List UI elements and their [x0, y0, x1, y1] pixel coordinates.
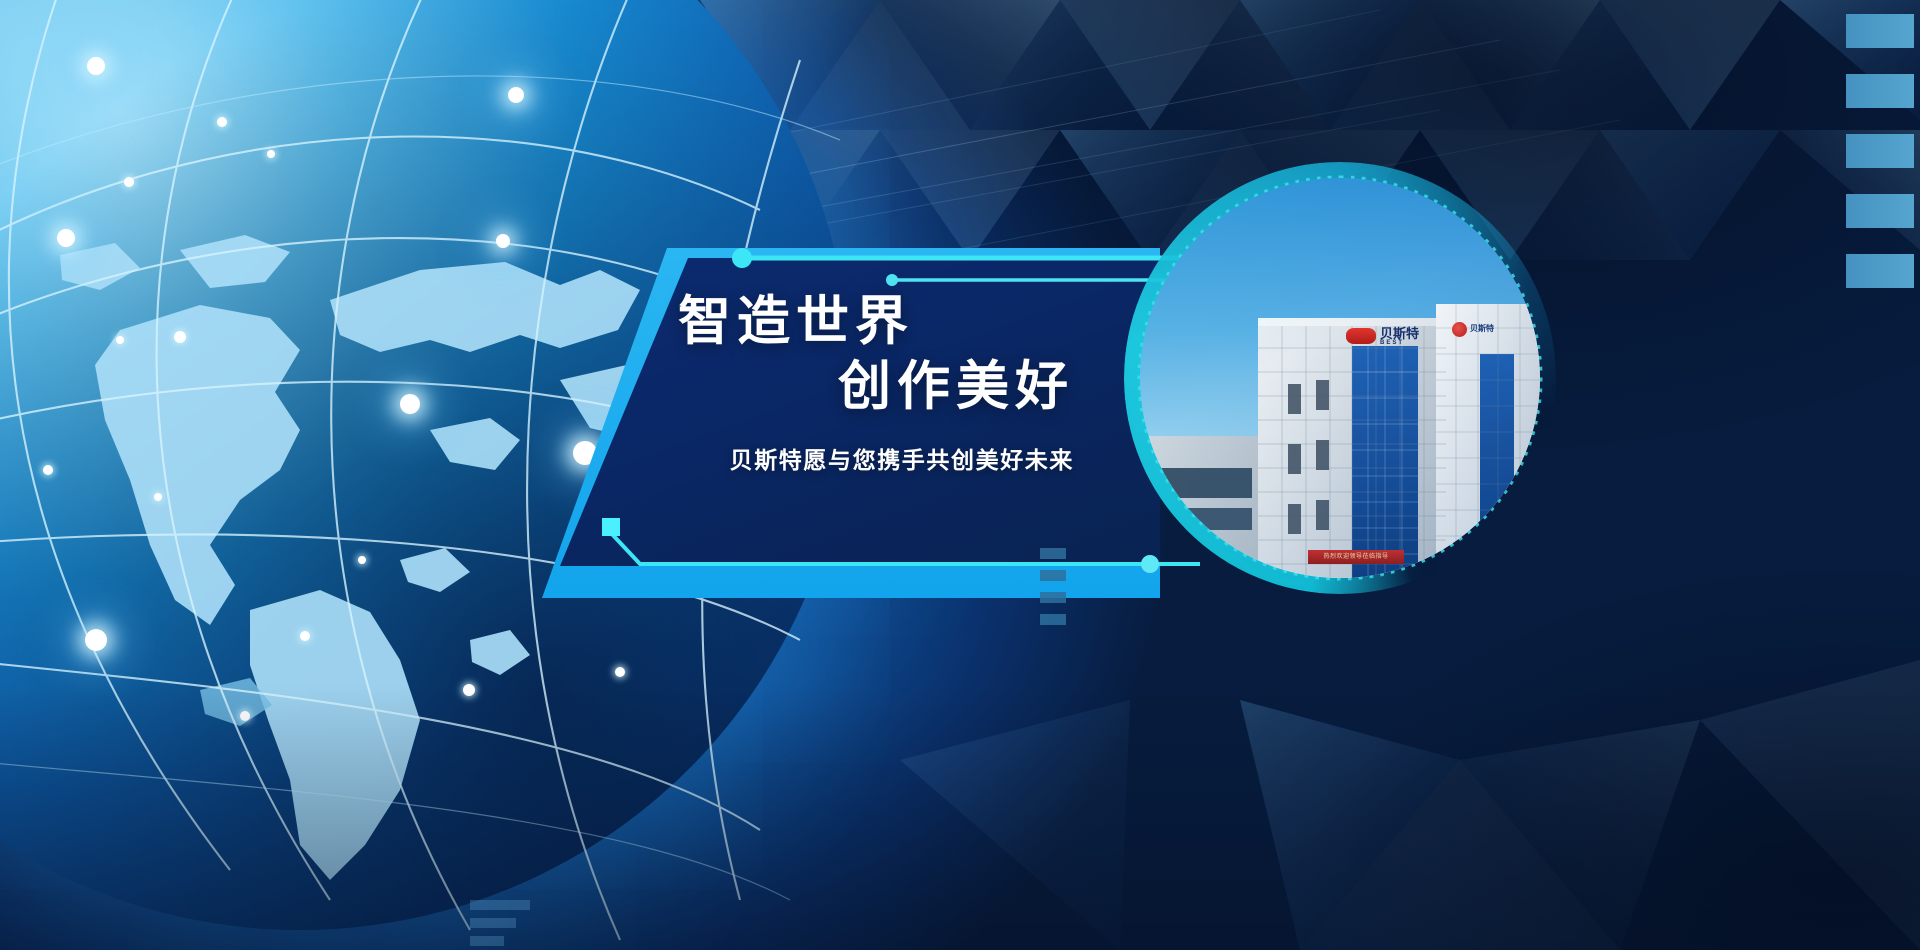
corner-bar-2 — [470, 936, 504, 946]
edge-bar-2 — [1846, 134, 1914, 168]
edge-bar-group — [1846, 14, 1920, 314]
dash-decor-group — [1040, 548, 1066, 636]
edge-bar-4 — [1846, 254, 1914, 288]
dash-0 — [1040, 548, 1066, 559]
building-photo: 贝斯特 BEST 贝斯特 热烈欢迎领导莅临指导 — [1140, 178, 1540, 578]
headline-subtitle: 贝斯特愿与您携手共创美好未来 — [660, 441, 1080, 475]
building-photo-module: 贝斯特 BEST 贝斯特 热烈欢迎领导莅临指导 — [1140, 178, 1540, 578]
dash-2 — [1040, 592, 1066, 603]
corner-bar-0 — [470, 900, 530, 910]
corner-bar-1 — [470, 918, 516, 928]
headline-copy: 智造世界 创作美好 贝斯特愿与您携手共创美好未来 — [660, 290, 1080, 475]
trace-node-top — [732, 248, 752, 268]
corner-bar-group — [470, 900, 530, 950]
hero-banner: 智造世界 创作美好 贝斯特愿与您携手共创美好未来 — [0, 0, 1920, 950]
trace-square-node — [602, 518, 620, 536]
edge-bar-3 — [1846, 194, 1914, 228]
photo-color-haze — [1140, 178, 1540, 578]
dash-3 — [1040, 614, 1066, 625]
edge-bar-1 — [1846, 74, 1914, 108]
trace-node-top2 — [886, 274, 898, 286]
headline-line-2: 创作美好 — [660, 355, 1080, 420]
edge-bar-0 — [1846, 14, 1914, 48]
dash-1 — [1040, 570, 1066, 581]
headline-line-1: 智造世界 — [660, 290, 1080, 355]
